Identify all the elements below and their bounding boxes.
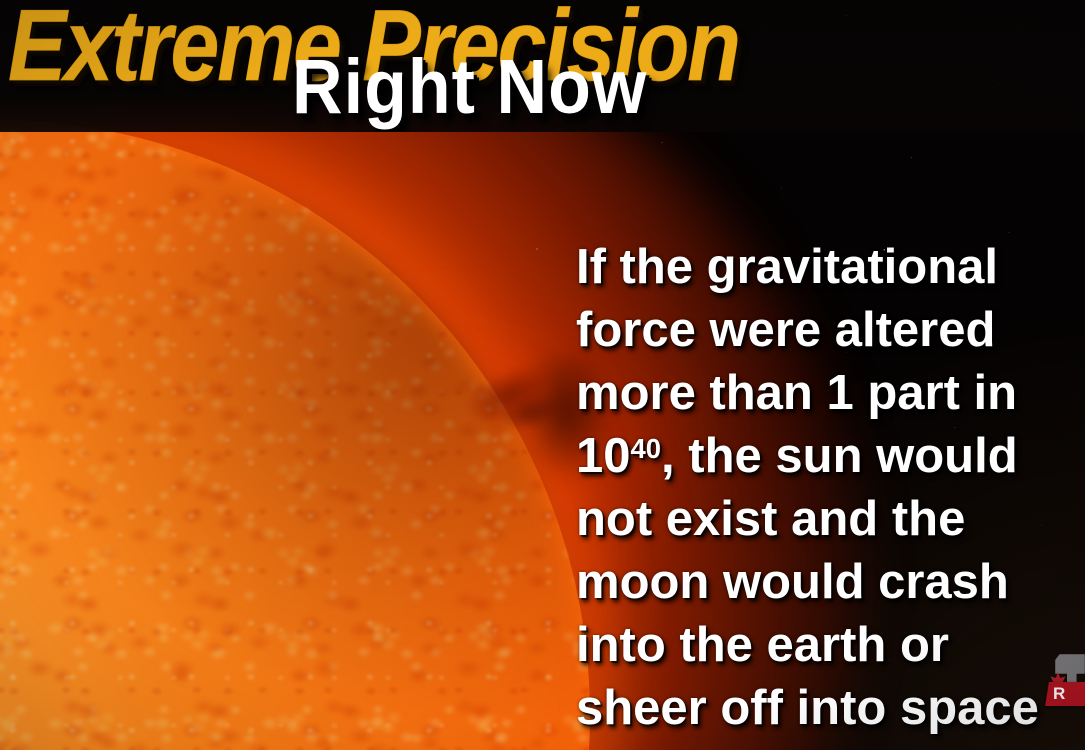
body-line-3: more than 1 part in: [576, 362, 1085, 425]
title-banner: Extreme Precision Right Now: [0, 0, 1085, 132]
watermark-ribbon-label: R: [1053, 684, 1066, 704]
body-line-4: 1040, the sun would: [576, 425, 1085, 488]
body-line-1: If the gravitational: [576, 236, 1085, 299]
body-line-6: moon would crash: [576, 551, 1085, 614]
exponent-superscript: 40: [631, 433, 662, 464]
body-line-7: into the earth or: [576, 614, 1085, 677]
exponent-base: 10: [576, 429, 631, 483]
body-line-8: sheer off into space: [576, 677, 1085, 740]
body-line-5: not exist and the: [576, 488, 1085, 551]
body-line-2: force were altered: [576, 299, 1085, 362]
body-line-4-rest: , the sun would: [661, 429, 1018, 483]
watermark-logo: R: [1047, 654, 1085, 724]
body-paragraph: If the gravitational force were altered …: [576, 236, 1085, 740]
slide-canvas: Extreme Precision Right Now If the gravi…: [0, 0, 1085, 750]
page-subtitle: Right Now: [292, 42, 647, 130]
